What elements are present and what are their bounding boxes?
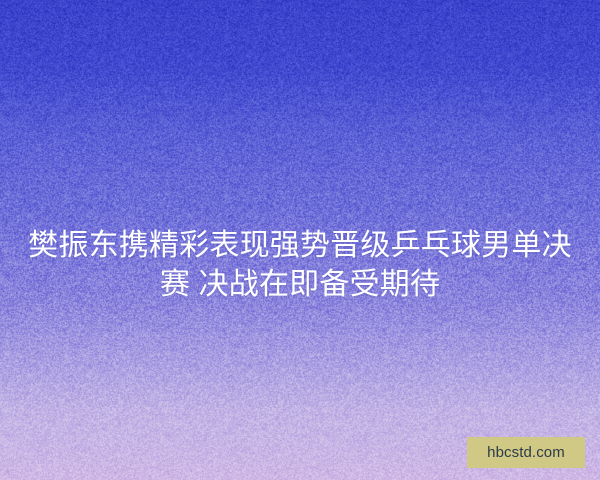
- banner-canvas: 樊振东携精彩表现强势晋级乒乓球男单决赛 决战在即备受期待 hbcstd.com: [0, 0, 600, 480]
- watermark-site-label: hbcstd.com: [487, 445, 565, 460]
- watermark-badge: hbcstd.com: [467, 437, 585, 468]
- headline-title: 樊振东携精彩表现强势晋级乒乓球男单决赛 决战在即备受期待: [0, 226, 600, 304]
